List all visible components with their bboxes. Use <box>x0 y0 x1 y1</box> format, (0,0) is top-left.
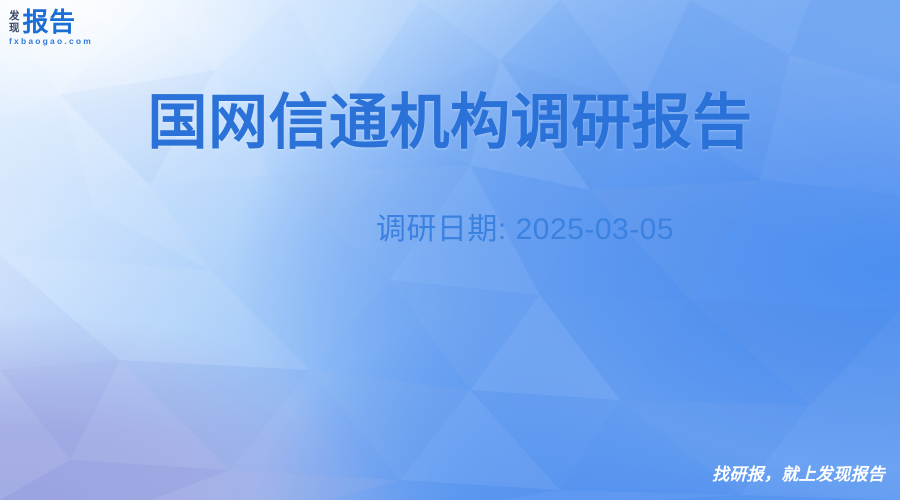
logo-char-xian: 现 <box>9 23 20 35</box>
headline-block: 国网信通机构调研报告 调研日期: 2025-03-05 <box>0 88 900 250</box>
footer-slogan: 找研报，就上发现报告 <box>712 460 885 485</box>
brand-logo[interactable]: 发 现 报告 fxbaogao.com <box>9 10 93 46</box>
cover-slide: 发 现 报告 fxbaogao.com 国网信通机构调研报告 调研日期: 202… <box>0 0 900 500</box>
low-poly-background-pattern <box>0 0 900 500</box>
logo-wordmark: 报告 <box>23 10 76 35</box>
logo-stacked-characters: 发 现 <box>9 10 20 34</box>
survey-date-line: 调研日期: 2025-03-05 <box>0 210 900 250</box>
logo-wordmark-row: 发 现 报告 <box>9 10 76 35</box>
page-title: 国网信通机构调研报告 <box>0 88 900 158</box>
logo-url: fxbaogao.com <box>9 37 93 46</box>
logo-char-fa: 发 <box>9 11 20 23</box>
